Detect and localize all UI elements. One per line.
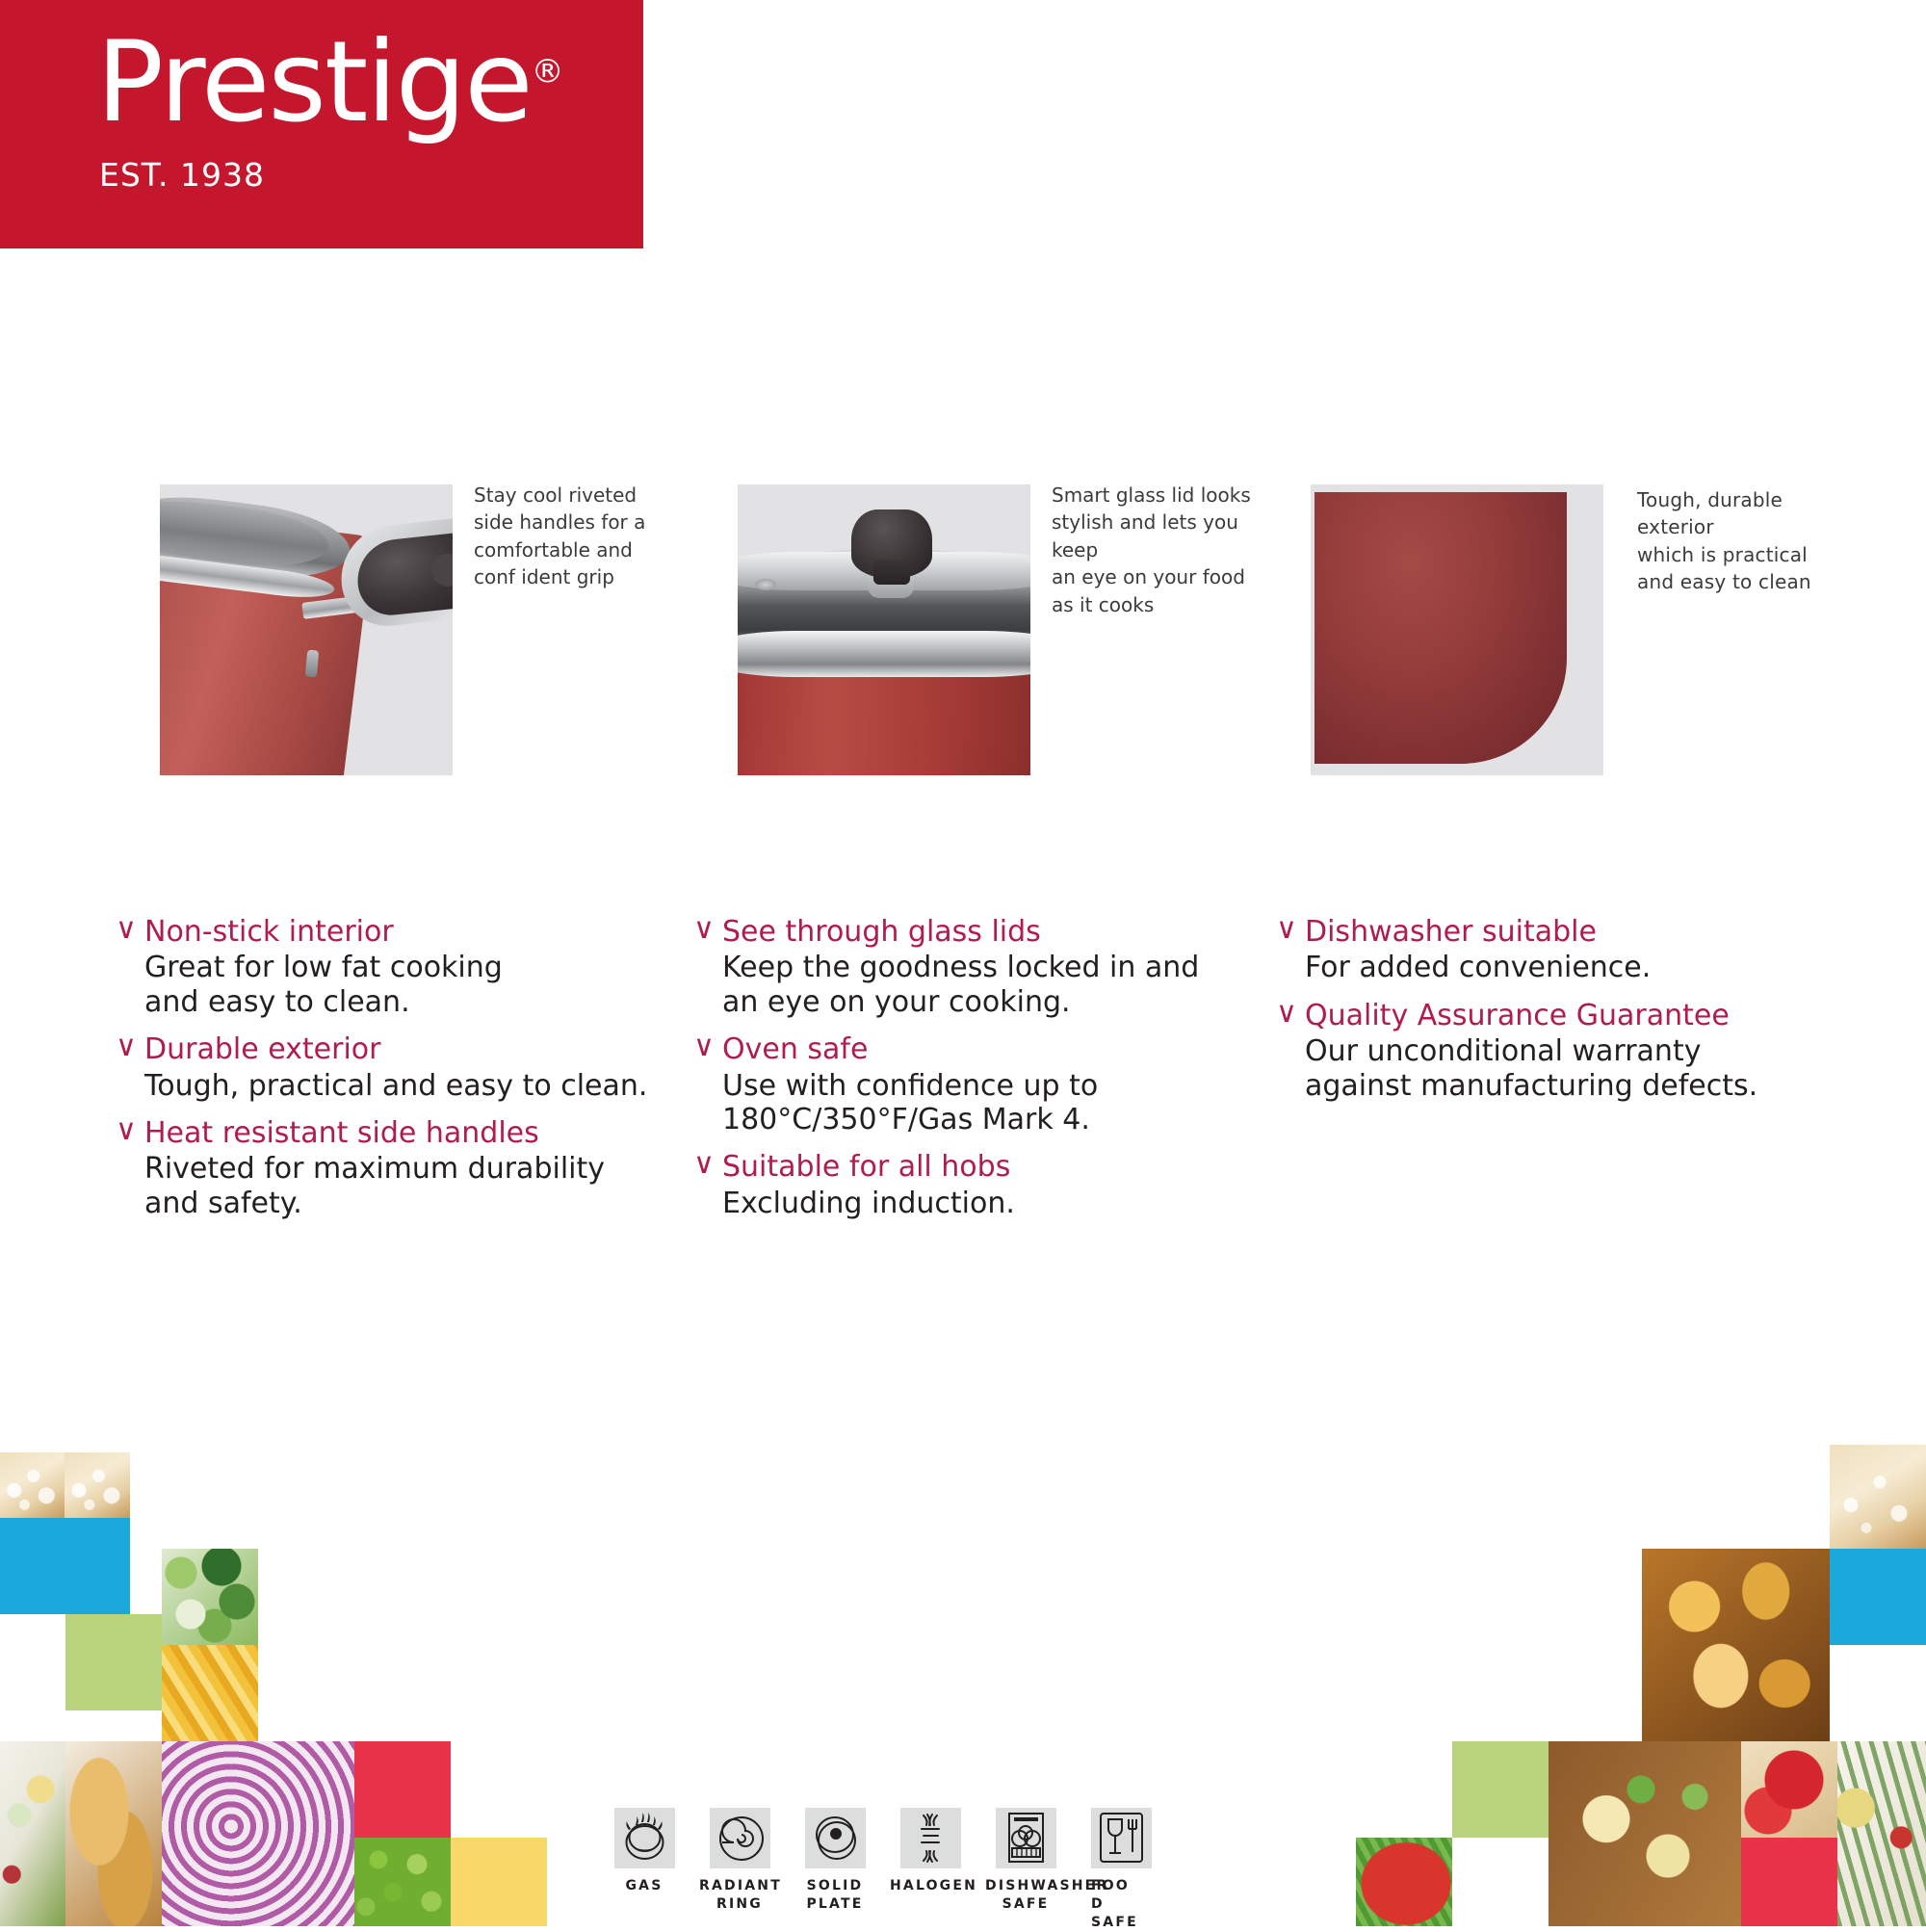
feature-title: See through glass lids xyxy=(722,915,1252,949)
caption-exterior: Tough, durable exterior which is practic… xyxy=(1637,486,1859,596)
compat-icon-dishwasher-safe: DISHWASHER SAFE xyxy=(985,1808,1066,1914)
mosaic-photo-bread xyxy=(0,1452,65,1518)
feature-item: ∨ Durable exterior Tough, practical and … xyxy=(116,1032,674,1103)
feature-column-1: ∨ Non-stick interior Great for low fat c… xyxy=(116,915,674,1234)
feature-title: Durable exterior xyxy=(144,1032,674,1066)
mosaic-photo-olive-oil xyxy=(1837,1741,1926,1926)
mosaic-swatch-cyan xyxy=(65,1518,130,1614)
radiant-ring-glyph xyxy=(710,1808,770,1868)
food-safe-icon xyxy=(1091,1808,1152,1868)
feature-item: ∨ Dishwasher suitable For added convenie… xyxy=(1276,915,1854,985)
compat-icon-halogen: HALOGEN xyxy=(890,1808,971,1895)
compat-label-dishwasher-safe: DISHWASHER SAFE xyxy=(985,1877,1066,1914)
mosaic-photo-potato-wedges xyxy=(1642,1549,1830,1741)
pan-exterior-shape xyxy=(1314,492,1567,764)
lid-vent-shape xyxy=(755,579,776,590)
dishwasher-safe-glyph xyxy=(996,1808,1056,1868)
solid-plate-glyph xyxy=(805,1808,866,1868)
brand-wordmark: Prestige® xyxy=(96,27,564,139)
feature-description: For added convenience. xyxy=(1305,951,1854,984)
mosaic-photo-green-beans xyxy=(1356,1838,1452,1926)
mosaic-photo-herbs-oil xyxy=(0,1741,65,1926)
check-icon: ∨ xyxy=(693,1032,722,1136)
mosaic-swatch-red xyxy=(1741,1838,1837,1926)
caption-glass-lid: Smart glass lid looks stylish and lets y… xyxy=(1052,482,1273,618)
check-icon: ∨ xyxy=(1276,999,1305,1103)
brand-logo-block: Prestige® EST. 1938 xyxy=(0,0,643,248)
mosaic-swatch-green xyxy=(65,1614,162,1710)
check-icon: ∨ xyxy=(1276,915,1305,985)
feature-title: Non-stick interior xyxy=(144,915,674,949)
food-safe-glyph xyxy=(1091,1808,1152,1868)
feature-description: Riveted for maximum durability and safet… xyxy=(144,1152,674,1220)
mosaic-swatch-red xyxy=(354,1741,451,1838)
feature-item: ∨ Quality Assurance Guarantee Our uncond… xyxy=(1276,999,1854,1103)
knob-neck-shape xyxy=(873,560,910,585)
feature-item: ∨ Suitable for all hobs Excluding induct… xyxy=(693,1150,1252,1220)
product-image-exterior xyxy=(1311,484,1603,775)
check-icon: ∨ xyxy=(116,1116,144,1220)
compat-label-radiant-ring: RADIANT RING xyxy=(699,1877,780,1914)
compat-label-gas: GAS xyxy=(604,1877,685,1895)
solid-plate-icon xyxy=(805,1808,866,1868)
feature-item: ∨ Heat resistant side handles Riveted fo… xyxy=(116,1116,674,1220)
mosaic-swatch-yellow xyxy=(451,1838,547,1926)
registered-trademark-icon: ® xyxy=(532,52,564,91)
mosaic-photo-courgette xyxy=(162,1549,258,1645)
feature-column-2: ∨ See through glass lids Keep the goodne… xyxy=(693,915,1252,1234)
feature-item: ∨ See through glass lids Keep the goodne… xyxy=(693,915,1252,1019)
product-image-side-handle xyxy=(160,484,453,775)
mosaic-photo-tomato xyxy=(1741,1741,1837,1838)
feature-item: ∨ Oven safe Use with confidence up to 18… xyxy=(693,1032,1252,1136)
mosaic-photo-bread xyxy=(1830,1445,1926,1549)
compat-icon-solid-plate: SOLID PLATE xyxy=(794,1808,875,1914)
caption-side-handle: Stay cool riveted side handles for a com… xyxy=(474,482,676,591)
mosaic-photo-pasta xyxy=(162,1645,258,1741)
feature-title: Heat resistant side handles xyxy=(144,1116,674,1150)
check-icon: ∨ xyxy=(693,1150,722,1220)
mosaic-swatch-cyan xyxy=(1830,1549,1926,1645)
check-icon: ∨ xyxy=(693,915,722,1019)
halogen-glyph xyxy=(900,1808,961,1868)
mosaic-photo-croutons xyxy=(65,1741,162,1926)
brand-name-text: Prestige xyxy=(96,17,532,147)
gas-hob-icon xyxy=(614,1808,675,1868)
compat-label-solid-plate: SOLID PLATE xyxy=(794,1877,875,1914)
brand-established-text: EST. 1938 xyxy=(99,159,265,191)
check-icon: ∨ xyxy=(116,915,144,1019)
compat-label-halogen: HALOGEN xyxy=(890,1877,971,1895)
feature-description: Great for low fat cooking and easy to cl… xyxy=(144,951,674,1019)
gas-hob-glyph xyxy=(614,1808,675,1868)
lid-steel-rim-shape xyxy=(738,631,1030,677)
feature-title: Suitable for all hobs xyxy=(722,1150,1252,1184)
compat-icon-radiant-ring: RADIANT RING xyxy=(699,1808,780,1914)
dishwasher-safe-icon xyxy=(996,1808,1056,1868)
mosaic-photo-peas xyxy=(354,1838,451,1926)
feature-item: ∨ Non-stick interior Great for low fat c… xyxy=(116,915,674,1019)
product-image-glass-lid xyxy=(738,484,1030,775)
mosaic-photo-potato-salad xyxy=(1549,1741,1741,1926)
feature-description: Excluding induction. xyxy=(722,1187,1252,1220)
halogen-icon xyxy=(900,1808,961,1868)
handle-rivet-shape xyxy=(305,650,319,678)
feature-title: Dishwasher suitable xyxy=(1305,915,1854,949)
feature-description: Our unconditional warranty against manuf… xyxy=(1305,1034,1854,1103)
feature-title: Quality Assurance Guarantee xyxy=(1305,999,1854,1032)
compat-label-food-safe: FOO D SAFE xyxy=(1080,1877,1161,1932)
feature-title: Oven safe xyxy=(722,1032,1252,1066)
mosaic-photo-red-onion xyxy=(162,1741,354,1926)
feature-description: Tough, practical and easy to clean. xyxy=(144,1069,674,1103)
mosaic-photo-bread xyxy=(65,1452,130,1518)
check-icon: ∨ xyxy=(116,1032,144,1103)
compat-icon-gas: GAS xyxy=(604,1808,685,1895)
mosaic-swatch-cyan xyxy=(0,1518,65,1614)
radiant-ring-icon xyxy=(710,1808,770,1868)
mosaic-swatch-green xyxy=(1452,1741,1549,1838)
feature-column-3: ∨ Dishwasher suitable For added convenie… xyxy=(1276,915,1854,1116)
feature-description: Keep the goodness locked in and an eye o… xyxy=(722,951,1252,1019)
feature-description: Use with confidence up to 180°C/350°F/Ga… xyxy=(722,1069,1252,1137)
compat-icon-food-safe: FOO D SAFE xyxy=(1080,1808,1161,1932)
